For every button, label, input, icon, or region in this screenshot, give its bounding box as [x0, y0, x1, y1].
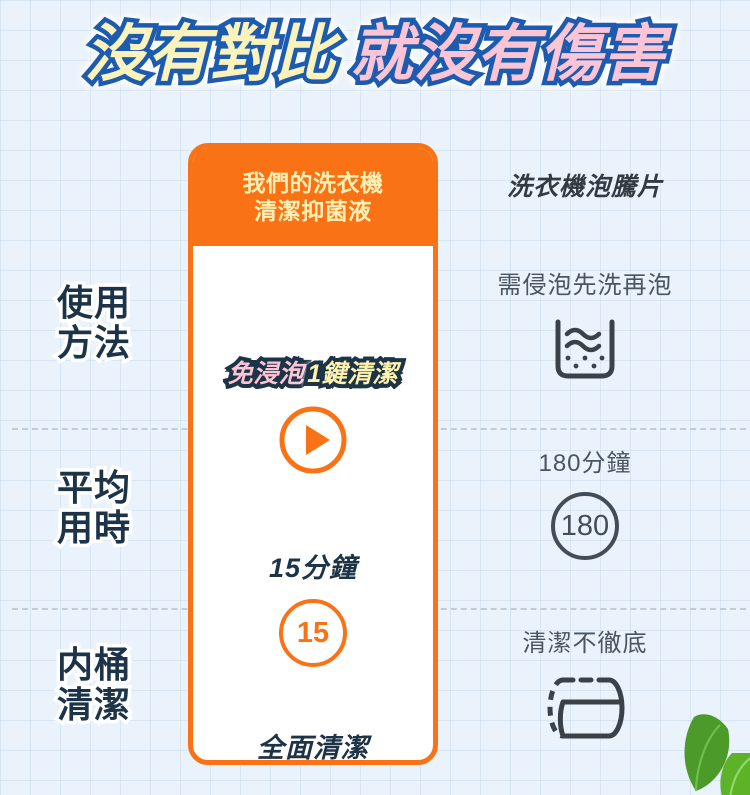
product-drum-title: 全面清潔: [193, 726, 433, 765]
page-title: 沒有對比就沒有傷害: [0, 22, 750, 87]
rival-time-badge: 180: [551, 492, 619, 560]
badge-no-soak: 免浸泡: [228, 354, 305, 390]
rival-column: 洗衣機泡騰片 需侵泡先洗再泡: [440, 143, 750, 765]
row-label-drum-line1: 内桶: [0, 645, 188, 685]
product-card[interactable]: 我們的洗衣機 清潔抑菌液 免浸泡 1鍵清潔: [188, 143, 438, 765]
row-label-time-line1: 平均: [0, 468, 188, 508]
product-badges: 免浸泡 1鍵清潔: [193, 354, 433, 390]
row-label-drum: 内桶 清潔: [0, 645, 188, 726]
product-card-header: 我們的洗衣機 清潔抑菌液: [193, 148, 433, 246]
basin-water-icon: [440, 314, 730, 384]
play-circle-icon[interactable]: [193, 404, 433, 476]
row-label-usage-line1: 使用: [0, 283, 188, 323]
rival-time-title: 180分鐘: [440, 443, 730, 478]
comparison-table: 使用 方法 平均 用時 内桶 清潔 我們的洗衣機 清潔抑菌液: [0, 143, 750, 773]
product-card-body: 免浸泡 1鍵清潔 15分鐘 15: [193, 246, 433, 765]
product-header-line1: 我們的洗衣機: [243, 169, 384, 197]
rival-cell-usage: 需侵泡先洗再泡: [440, 265, 730, 384]
product-cell-drum: 全面清潔: [193, 726, 433, 765]
drum-partial-icon: [440, 672, 730, 744]
badge-one-touch: 1鍵清潔: [307, 354, 398, 390]
rival-usage-text: 需侵泡先洗再泡: [440, 265, 730, 300]
infographic-page: 沒有對比就沒有傷害 使用 方法 平均 用時 内桶 清潔 我們的洗衣機: [0, 0, 750, 795]
row-label-drum-line2: 清潔: [0, 685, 188, 725]
product-cell-time: 15分鐘 15: [193, 546, 433, 667]
row-label-column: 使用 方法 平均 用時 内桶 清潔: [0, 143, 188, 773]
rival-cell-drum: 清潔不徹底: [440, 623, 730, 744]
headline-part-1: 沒有對比: [84, 22, 336, 87]
product-time-badge: 15: [279, 599, 347, 667]
product-cell-usage: 免浸泡 1鍵清潔: [193, 354, 433, 476]
row-label-time-line2: 用時: [0, 508, 188, 548]
product-time-title: 15分鐘: [193, 546, 433, 585]
rival-header: 洗衣機泡騰片: [440, 167, 730, 203]
product-header-line2: 清潔抑菌液: [243, 197, 384, 225]
rival-drum-title: 清潔不徹底: [440, 623, 730, 658]
row-label-usage: 使用 方法: [0, 283, 188, 364]
headline-part-2: 就沒有傷害: [351, 22, 666, 87]
row-label-time: 平均 用時: [0, 468, 188, 549]
rival-cell-time: 180分鐘 180: [440, 443, 730, 560]
row-label-usage-line2: 方法: [0, 323, 188, 363]
